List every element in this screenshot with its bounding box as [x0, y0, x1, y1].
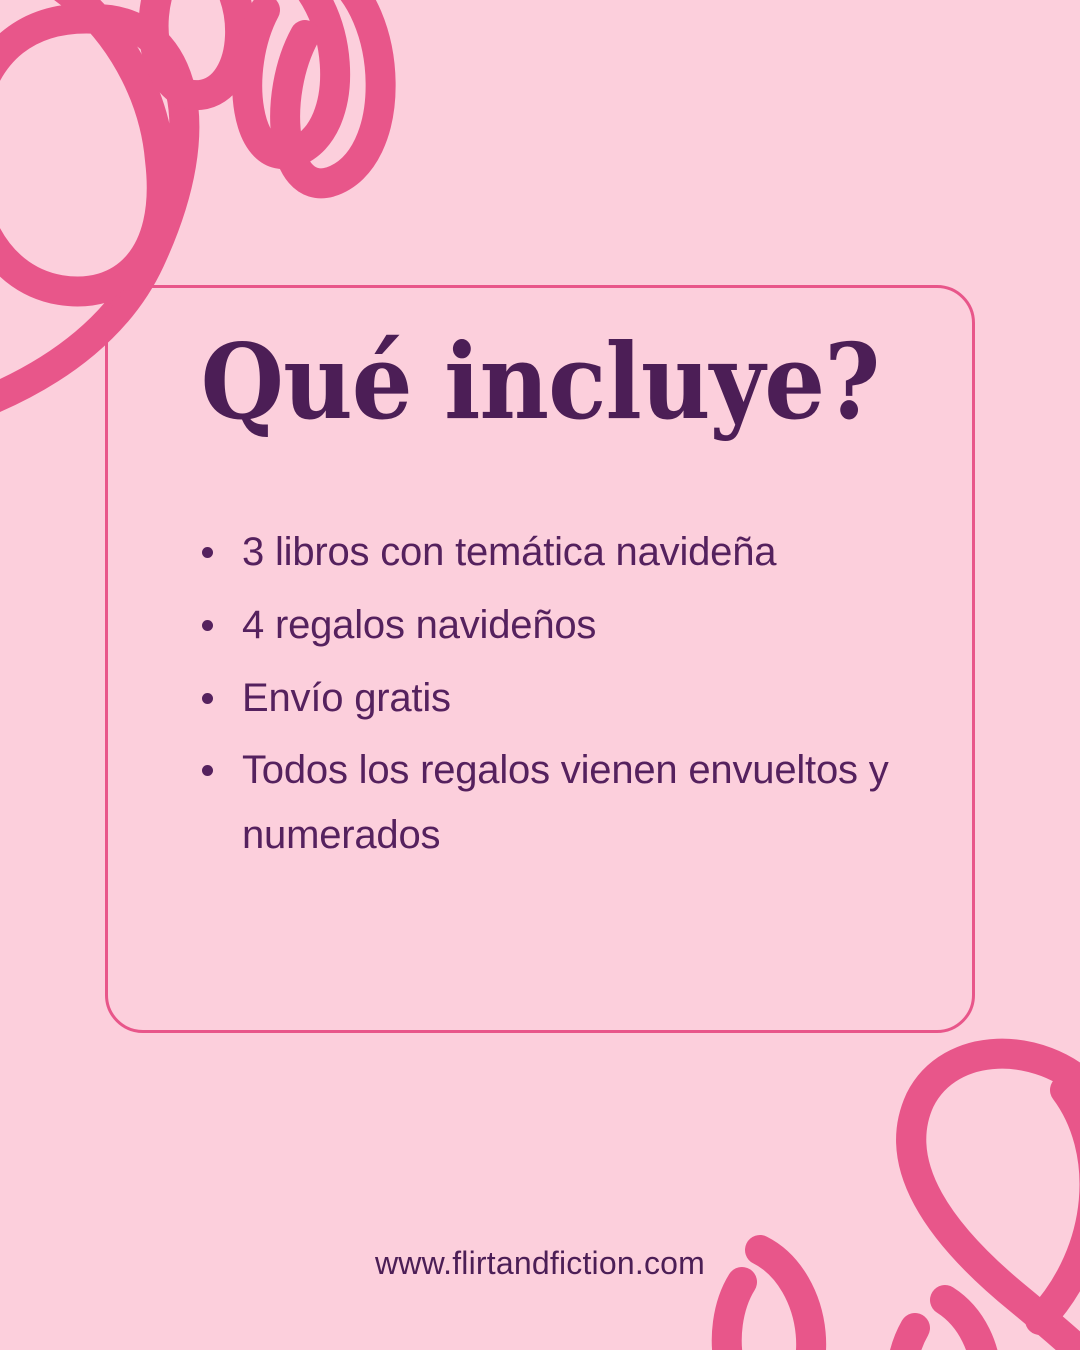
heart-loop-icon [154, 0, 241, 95]
list-item: 3 libros con temática navideña [196, 520, 932, 585]
bullet-dot-icon [202, 693, 213, 704]
bullet-dot-icon [202, 620, 213, 631]
heart-outline-icon [911, 1054, 1080, 1350]
content-card: Qué incluye? 3 libros con temática navid… [105, 285, 975, 1033]
bullet-dot-icon [202, 547, 213, 558]
heart-loop-icon [285, 0, 380, 183]
list-item: 4 regalos navideños [196, 593, 932, 658]
heart-loop-icon [247, 0, 335, 154]
list-item-label: Todos los regalos vienen envueltos y num… [242, 748, 889, 857]
list-item: Envío gratis [196, 666, 932, 731]
page-title: Qué incluye? [143, 330, 938, 434]
list-item-label: 4 regalos navideños [242, 603, 596, 647]
heart-loop-icon [901, 1300, 987, 1350]
bullet-dot-icon [202, 765, 213, 776]
list-item: Todos los regalos vienen envueltos y num… [196, 738, 932, 868]
heart-outline-icon [1040, 1090, 1080, 1320]
list-item-label: Envío gratis [242, 676, 451, 720]
site-url[interactable]: www.flirtandfiction.com [0, 1245, 1080, 1282]
list-item-label: 3 libros con temática navideña [242, 530, 776, 574]
feature-list: 3 libros con temática navideña 4 regalos… [196, 520, 932, 876]
